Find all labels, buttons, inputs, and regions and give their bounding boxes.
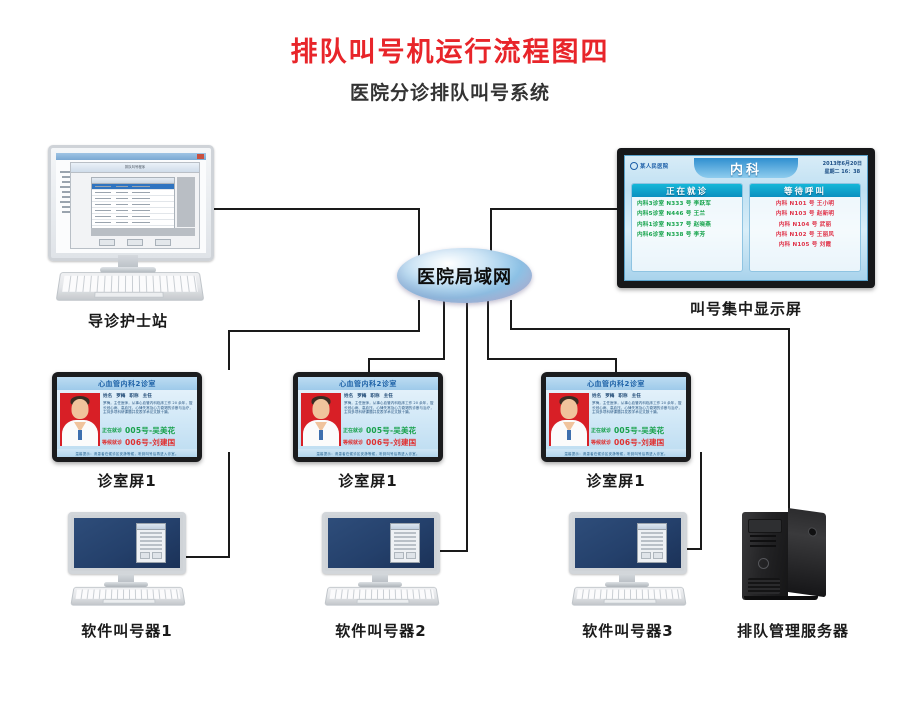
action-button[interactable] <box>99 239 115 246</box>
wire-clinic3-down <box>700 452 702 550</box>
caller-app-line <box>394 536 416 538</box>
software-caller-2-node[interactable] <box>322 512 440 604</box>
list-item: 内科3诊室 N333 号 李跃军 <box>632 197 742 207</box>
list-item: 内科 N105 号 刘霞 <box>750 238 860 248</box>
next-waiting-line: 等候就诊 006号-刘建国 <box>102 436 194 448</box>
display-board-bezel: 某人民医院 内科 2013年6月20日 星期二 16：38 正在就诊 <box>617 148 875 288</box>
clinic-room-title: 心血管内科2诊室 <box>339 379 397 389</box>
doctor-tie <box>78 430 82 440</box>
now-serving-line: 正在就诊 005号-吴美花 <box>102 424 194 436</box>
clinic-room-header: 心血管内科2诊室 <box>57 377 197 390</box>
caller-app-line <box>140 544 162 546</box>
wire-cloud-branch-server <box>510 300 512 330</box>
hospital-name: 某人民医院 <box>640 162 668 170</box>
display-board-columns: 正在就诊 内科3诊室 N333 号 李跃军 内科5诊室 N446 号 王兰 内科… <box>631 183 861 272</box>
caller-monitor <box>569 512 687 574</box>
close-icon[interactable] <box>197 154 204 159</box>
server-vent <box>748 578 780 594</box>
clinic-screen-2-label: 诊室屏1 <box>293 470 443 491</box>
column-now-serving-title: 正在就诊 <box>666 185 708 197</box>
caller-app-window[interactable] <box>136 523 166 563</box>
caller-app-button[interactable] <box>653 552 663 559</box>
server-front-panel <box>742 512 788 600</box>
doctor-photo <box>549 393 589 446</box>
software-caller-3-label: 软件叫号器3 <box>547 620 709 641</box>
keyboard[interactable] <box>70 587 185 606</box>
doctor-photo <box>301 393 341 446</box>
caller-app-line <box>641 536 663 538</box>
server-side-panel <box>788 508 826 597</box>
clinic-screen-1-label: 诊室屏1 <box>52 470 202 491</box>
doctor-name-value: 罗梅 <box>357 393 366 399</box>
diagram-canvas: 排队叫号机运行流程图四 医院分诊排队叫号系统 医院局域网 <box>0 0 900 715</box>
list-item: 内科6诊室 N338 号 李芳 <box>632 228 742 238</box>
next-waiting-line: 等候就诊 006号-刘建国 <box>343 436 435 448</box>
next-waiting-value: 006号-刘建国 <box>366 437 416 448</box>
wire-cloud-to-server-h <box>510 328 790 330</box>
clinic-footer: 温馨提示：请患者在候诊区安静等候，听到叫号后再进入诊室。 <box>57 449 197 457</box>
list-item: 内科1诊室 N337 号 赵晓燕 <box>632 217 742 227</box>
server-drive-bay <box>748 519 782 533</box>
doctor-photo <box>60 393 100 446</box>
doctor-bio: 罗梅，主任医师，从事心血管内科临床工作 20 余年，擅长冠心病、高血压、心律失常… <box>103 401 194 415</box>
caller-app-button[interactable] <box>152 552 162 559</box>
caller-app-buttons <box>140 552 162 559</box>
caller-app-button[interactable] <box>394 552 404 559</box>
clinic-room-header: 心血管内科2诊室 <box>546 377 686 390</box>
wire-nurse-to-cloud-h <box>208 208 420 210</box>
nurse-station-monitor: 排队叫号程序 <box>48 145 214 261</box>
list-item: 内科 N102 号 王丽风 <box>750 228 860 238</box>
side-panel <box>177 177 195 227</box>
now-serving-label: 正在就诊 <box>102 427 122 434</box>
software-caller-1-label: 软件叫号器1 <box>46 620 208 641</box>
software-caller-1-node[interactable] <box>68 512 186 604</box>
clinic-footer: 温馨提示：请患者在候诊区安静等候，听到叫号后再进入诊室。 <box>298 449 438 457</box>
next-waiting-label: 等候就诊 <box>591 439 611 446</box>
clinic-screen-3-label: 诊室屏1 <box>541 470 691 491</box>
display-date: 2013年6月20日 <box>823 160 862 168</box>
doctor-name-key: 姓名 <box>103 393 112 399</box>
keyboard-keys <box>577 590 682 599</box>
doctor-bio: 罗梅，主任医师，从事心血管内科临床工作 20 余年，擅长冠心病、高血压、心律失常… <box>344 401 435 415</box>
caller-app-window[interactable] <box>390 523 420 563</box>
caller-app-line <box>641 548 663 550</box>
clinic-screen-bezel: 心血管内科2诊室 姓名 罗梅 职称 <box>293 372 443 462</box>
caller-app-line <box>140 536 162 538</box>
next-waiting-label: 等候就诊 <box>102 439 122 446</box>
caller-app-buttons <box>641 552 663 559</box>
doctor-head <box>561 399 578 419</box>
action-button[interactable] <box>155 239 171 246</box>
queue-program-titlebar: 排队叫号程序 <box>71 163 199 173</box>
patient-table <box>91 177 175 229</box>
list-item: 内科5诊室 N446 号 王兰 <box>632 207 742 217</box>
display-board-label: 叫号集中显示屏 <box>617 298 875 319</box>
caller-app-window[interactable] <box>637 523 667 563</box>
clinic-status-block: 正在就诊 005号-吴美花 等候就诊 006号-刘建国 <box>102 424 194 448</box>
doctor-tie <box>319 430 323 440</box>
doctor-name-key: 姓名 <box>592 393 601 399</box>
caller-app-line <box>641 532 663 534</box>
wire-to-clinic-3 <box>615 358 617 372</box>
server-slot <box>750 540 776 542</box>
clinic-footer-text: 温馨提示：请患者在候诊区安静等候，听到叫号后再进入诊室。 <box>316 451 419 456</box>
keyboard[interactable] <box>324 587 439 606</box>
now-serving-line: 正在就诊 005号-吴美花 <box>343 424 435 436</box>
caller-app-line <box>394 540 416 542</box>
page-subtitle: 医院分诊排队叫号系统 <box>0 78 900 105</box>
caller-app-button[interactable] <box>140 552 150 559</box>
doctor-name-value: 罗梅 <box>116 393 125 399</box>
wire-to-clinic-2 <box>368 358 370 372</box>
display-time: 星期二 16：38 <box>823 168 862 176</box>
wire-clinic1-down <box>228 452 230 558</box>
next-waiting-label: 等候就诊 <box>343 439 363 446</box>
keyboard-keys <box>62 276 198 292</box>
spacebar-key <box>356 599 409 604</box>
doctor-title-value: 主任 <box>143 393 152 399</box>
action-button[interactable] <box>127 239 143 246</box>
clinic-screen-display: 心血管内科2诊室 姓名 罗梅 职称 <box>298 377 438 457</box>
now-serving-value: 005号-吴美花 <box>125 425 175 436</box>
column-waiting-header: 等待呼叫 <box>750 184 860 197</box>
spacebar-key <box>94 292 164 298</box>
caller-monitor <box>322 512 440 574</box>
server-port-icon <box>808 527 817 537</box>
doctor-name-row: 姓名 罗梅 职称 主任 <box>344 393 435 400</box>
caller-screen <box>74 518 180 568</box>
doctor-head <box>72 399 89 419</box>
clinic-room-title: 心血管内科2诊室 <box>98 379 156 389</box>
window-titlebar <box>56 153 206 160</box>
wire-cloud-branch-3-h <box>487 358 617 360</box>
doctor-title-value: 主任 <box>384 393 393 399</box>
nurse-station-label: 导诊护士站 <box>48 310 208 331</box>
column-now-serving: 正在就诊 内科3诊室 N333 号 李跃军 内科5诊室 N446 号 王兰 内科… <box>631 183 743 272</box>
spacebar-key <box>102 599 155 604</box>
next-waiting-value: 006号-刘建国 <box>614 437 664 448</box>
doctor-title-value: 主任 <box>632 393 641 399</box>
display-board-node[interactable]: 某人民医院 内科 2013年6月20日 星期二 16：38 正在就诊 <box>617 148 875 288</box>
wire-cloud-branch-2-h <box>368 358 445 360</box>
doctor-name-key: 姓名 <box>344 393 353 399</box>
clinic-screen-display: 心血管内科2诊室 姓名 罗梅 职称 <box>57 377 197 457</box>
caller-app-titlebar <box>137 524 165 530</box>
clinic-status-block: 正在就诊 005号-吴美花 等候就诊 006号-刘建国 <box>343 424 435 448</box>
now-serving-label: 正在就诊 <box>591 427 611 434</box>
clinic-screen-bezel: 心血管内科2诊室 姓名 罗梅 职称 <box>52 372 202 462</box>
keyboard[interactable] <box>571 587 686 606</box>
department-banner: 内科 <box>694 158 798 178</box>
table-row[interactable] <box>92 220 174 226</box>
nurse-station-screen: 排队叫号程序 <box>56 153 206 253</box>
wire-cloud-branch-3 <box>487 300 489 360</box>
doctor-bio: 罗梅，主任医师，从事心血管内科临床工作 20 余年，擅长冠心病、高血压、心律失常… <box>592 401 683 415</box>
wire-to-server <box>788 328 790 526</box>
server-slot <box>750 535 776 537</box>
column-waiting: 等待呼叫 内科 N101 号 王小明 内科 N103 号 赵新明 内科 N104… <box>749 183 861 272</box>
caller-screen <box>575 518 681 568</box>
caller-app-buttons <box>394 552 416 559</box>
wire-cloud-branch-1 <box>418 300 420 332</box>
wire-cloud-branch-1-h <box>228 330 420 332</box>
list-item: 内科 N104 号 武丽 <box>750 217 860 227</box>
software-caller-3-node[interactable] <box>569 512 687 604</box>
footer-panel <box>91 228 195 236</box>
wire-to-clinic-1 <box>228 330 230 370</box>
caller-app-line <box>641 540 663 542</box>
next-waiting-line: 等候就诊 006号-刘建国 <box>591 436 683 448</box>
display-board-screen: 某人民医院 内科 2013年6月20日 星期二 16：38 正在就诊 <box>624 155 868 281</box>
clinic-screen-3-node[interactable]: 心血管内科2诊室 姓名 罗梅 职称 <box>541 372 691 462</box>
wire-display-to-cloud-h <box>490 208 620 210</box>
queue-server-label: 排队管理服务器 <box>712 620 874 641</box>
caller-app-line <box>394 544 416 546</box>
doctor-name-value: 罗梅 <box>605 393 614 399</box>
caller-screen <box>328 518 434 568</box>
column-now-serving-header: 正在就诊 <box>632 184 742 197</box>
caller-app-line <box>140 532 162 534</box>
list-item: 内科 N103 号 赵新明 <box>750 207 860 217</box>
now-serving-line: 正在就诊 005号-吴美花 <box>591 424 683 436</box>
nurse-station-node[interactable]: 排队叫号程序 <box>48 145 208 300</box>
caller-app-line <box>641 544 663 546</box>
spacebar-key <box>603 599 656 604</box>
caller-monitor <box>68 512 186 574</box>
next-waiting-value: 006号-刘建国 <box>125 437 175 448</box>
queue-program-window: 排队叫号程序 <box>70 162 200 249</box>
server-slot <box>750 545 776 547</box>
doctor-name-row: 姓名 罗梅 职称 主任 <box>103 393 194 400</box>
doctor-title-key: 职称 <box>129 393 138 399</box>
now-serving-label: 正在就诊 <box>343 427 363 434</box>
queue-server-node[interactable] <box>742 508 826 600</box>
caller-app-line <box>140 548 162 550</box>
hospital-lan-node[interactable]: 医院局域网 <box>397 248 532 303</box>
server-badge-icon <box>758 558 769 569</box>
doctor-tie <box>567 430 571 440</box>
now-serving-value: 005号-吴美花 <box>614 425 664 436</box>
wire-cloud-branch-2 <box>443 300 445 360</box>
clinic-screen-1-node[interactable]: 心血管内科2诊室 姓名 罗梅 职称 <box>52 372 202 462</box>
display-board-header: 某人民医院 内科 2013年6月20日 星期二 16：38 <box>625 156 867 182</box>
column-waiting-title: 等待呼叫 <box>784 185 826 197</box>
hospital-logo-icon <box>630 162 638 170</box>
list-item: 内科 N101 号 王小明 <box>750 197 860 207</box>
caller-app-titlebar <box>638 524 666 530</box>
server-base <box>744 596 818 600</box>
caller-app-button[interactable] <box>641 552 651 559</box>
now-serving-value: 005号-吴美花 <box>366 425 416 436</box>
doctor-title-key: 职称 <box>618 393 627 399</box>
caller-app-button[interactable] <box>406 552 416 559</box>
clinic-screen-display: 心血管内科2诊室 姓名 罗梅 职称 <box>546 377 686 457</box>
clinic-footer-text: 温馨提示：请患者在候诊区安静等候，听到叫号后再进入诊室。 <box>564 451 667 456</box>
clinic-screen-bezel: 心血管内科2诊室 姓名 罗梅 职称 <box>541 372 691 462</box>
hospital-lan-label: 医院局域网 <box>417 263 512 289</box>
keyboard[interactable] <box>56 272 205 301</box>
clinic-footer: 温馨提示：请患者在候诊区安静等候，听到叫号后再进入诊室。 <box>546 449 686 457</box>
keyboard-keys <box>330 590 435 599</box>
keyboard-keys <box>76 590 181 599</box>
doctor-name-row: 姓名 罗梅 职称 主任 <box>592 393 683 400</box>
clinic-room-header: 心血管内科2诊室 <box>298 377 438 390</box>
clinic-status-block: 正在就诊 005号-吴美花 等候就诊 006号-刘建国 <box>591 424 683 448</box>
wire-clinic2-down <box>466 452 468 552</box>
caller-app-titlebar <box>391 524 419 530</box>
software-caller-2-label: 软件叫号器2 <box>300 620 462 641</box>
caller-app-line <box>394 548 416 550</box>
queue-program-title: 排队叫号程序 <box>71 163 199 172</box>
datetime-block: 2013年6月20日 星期二 16：38 <box>823 160 862 176</box>
doctor-head <box>313 399 330 419</box>
clinic-footer-text: 温馨提示：请患者在候诊区安静等候，听到叫号后再进入诊室。 <box>75 451 178 456</box>
department-name: 内科 <box>730 159 762 178</box>
caller-app-line <box>140 540 162 542</box>
hospital-logo: 某人民医院 <box>630 162 668 170</box>
caller-app-line <box>394 532 416 534</box>
clinic-room-title: 心血管内科2诊室 <box>587 379 645 389</box>
doctor-title-key: 职称 <box>370 393 379 399</box>
clinic-screen-2-node[interactable]: 心血管内科2诊室 姓名 罗梅 职称 <box>293 372 443 462</box>
page-title: 排队叫号机运行流程图四 <box>0 30 900 69</box>
